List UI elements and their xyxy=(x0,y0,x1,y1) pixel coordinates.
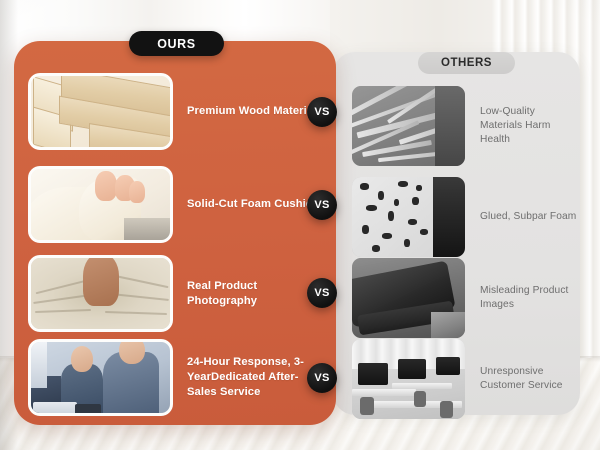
others-row-1: Low-Quality Materials Harm Health xyxy=(352,86,578,166)
ours-row-3: Real Product Photography xyxy=(28,255,323,332)
wood-planks-photo xyxy=(28,73,173,150)
foam-cushion-photo xyxy=(28,166,173,243)
vs-badge-4: VS xyxy=(307,363,337,393)
support-team-photo xyxy=(28,339,173,416)
comparison-infographic: OURS OTHERS Premium Wood Material xyxy=(0,0,600,450)
ours-badge: OURS xyxy=(129,31,224,56)
others-row-3-label: Misleading Product Images xyxy=(480,284,578,312)
ours-row-1: Premium Wood Material xyxy=(28,73,323,150)
others-badge: OTHERS xyxy=(418,52,515,74)
ours-row-2: Solid-Cut Foam Cushion xyxy=(28,166,323,243)
others-row-2-label: Glued, Subpar Foam xyxy=(480,210,576,224)
others-row-1-label: Low-Quality Materials Harm Health xyxy=(480,105,578,147)
ours-row-4-label: 24-Hour Response, 3-YearDedicated After-… xyxy=(187,355,323,399)
scrap-wood-photo xyxy=(352,86,465,166)
ours-row-4: 24-Hour Response, 3-YearDedicated After-… xyxy=(28,339,323,416)
others-row-3: Misleading Product Images xyxy=(352,258,578,338)
others-row-4-label: Unresponsive Customer Service xyxy=(480,365,578,393)
vs-badge-3: VS xyxy=(307,278,337,308)
others-row-4: Unresponsive Customer Service xyxy=(352,339,578,419)
vs-badge-1: VS xyxy=(307,97,337,127)
ours-row-1-label: Premium Wood Material xyxy=(187,104,316,119)
speckled-foam-photo xyxy=(352,177,465,257)
dark-cushion-photo xyxy=(352,258,465,338)
ours-row-2-label: Solid-Cut Foam Cushion xyxy=(187,197,320,212)
cushion-press-photo xyxy=(28,255,173,332)
others-row-2: Glued, Subpar Foam xyxy=(352,177,578,257)
empty-office-photo xyxy=(352,339,465,419)
vs-badge-2: VS xyxy=(307,190,337,220)
ours-row-3-label: Real Product Photography xyxy=(187,279,323,309)
